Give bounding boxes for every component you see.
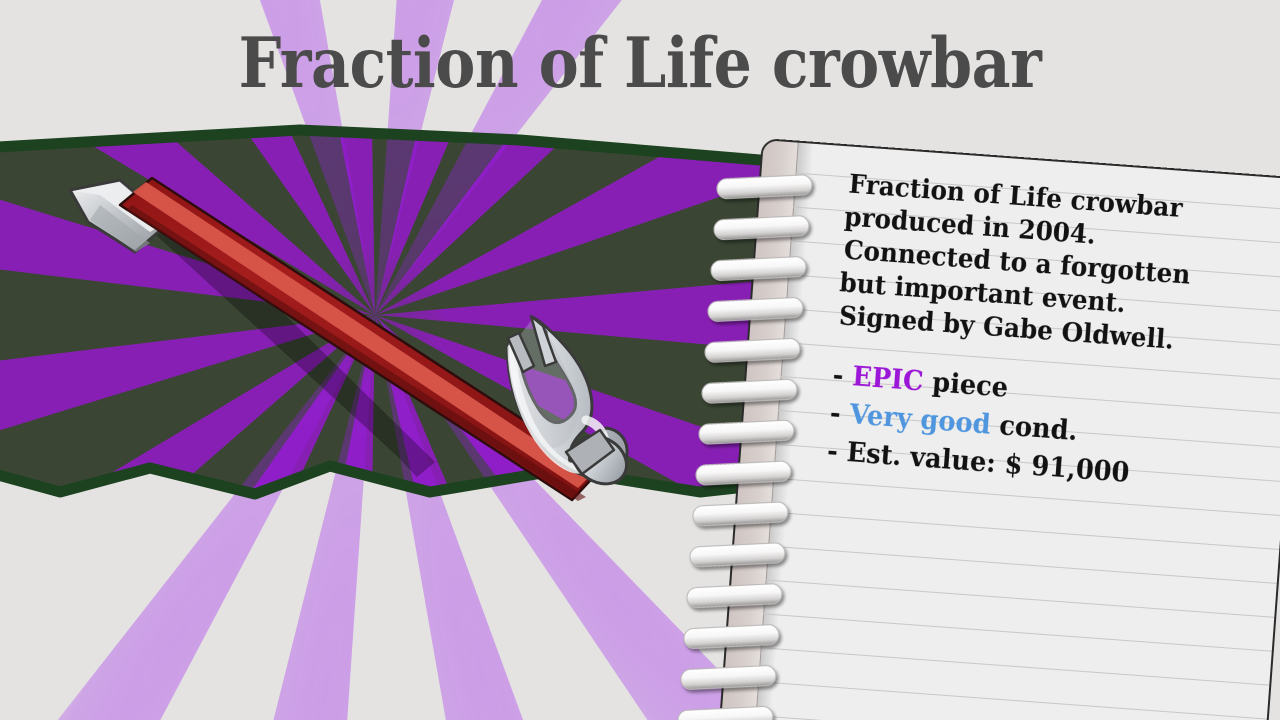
- note-rule-line: [763, 613, 1272, 651]
- bullet-dash: -: [826, 436, 848, 468]
- note-description: Fraction of Life crowbarproduced in 2004…: [836, 168, 1280, 365]
- note-content: Fraction of Life crowbarproduced in 2004…: [826, 168, 1280, 502]
- note-rule-line: [756, 715, 1265, 720]
- bullet-dash: -: [832, 360, 854, 392]
- note-rule-line: [761, 647, 1270, 685]
- bullet-text: piece: [922, 367, 1009, 404]
- bullet-highlight: EPIC: [851, 361, 924, 397]
- note-rule-line: [758, 681, 1267, 719]
- note-rule-line: [768, 546, 1277, 584]
- item-showcase-screen: Fraction of Life crowbar Fraction of Lif…: [0, 0, 1280, 720]
- note-rule-line: [766, 579, 1275, 617]
- note-rule-line: [771, 512, 1280, 550]
- bullet-highlight: Very good: [848, 399, 991, 440]
- bullet-text: cond.: [989, 410, 1078, 447]
- bullet-dash: -: [829, 398, 851, 430]
- item-note-card: Fraction of Life crowbarproduced in 2004…: [718, 138, 1280, 720]
- page-title: Fraction of Life crowbar: [19, 22, 1261, 104]
